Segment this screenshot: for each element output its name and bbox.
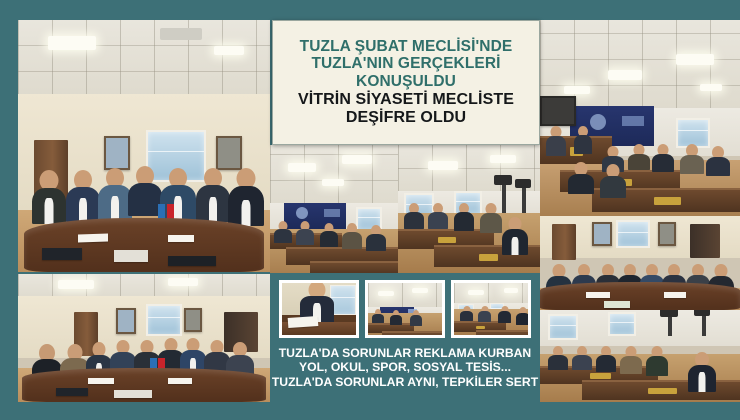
headline-line-2: TUZLA'NIN GERÇEKLERİ <box>311 55 500 72</box>
thumb-council-members-seated[interactable] <box>451 280 531 338</box>
photo-committee-meeting-large <box>18 20 270 272</box>
caption-line-2: YOL, OKUL, SPOR, SOSYAL TESİS... <box>272 360 538 374</box>
caption-text: TUZLA'DA SORUNLAR REKLAMA KURBAN YOL, OK… <box>272 346 538 389</box>
thumb-speaker-at-desk[interactable] <box>279 280 359 338</box>
caption-line-3: TUZLA'DA SORUNLAR AYNI, TEPKİLER SERT <box>272 375 538 389</box>
photo-council-session-top-right <box>540 20 740 216</box>
document-stack <box>288 316 319 328</box>
person-figure <box>32 170 66 224</box>
camera-tripod <box>502 181 506 215</box>
caption-line-1: TUZLA'DA SORUNLAR REKLAMA KURBAN <box>272 346 538 360</box>
thumb-council-chamber-wide[interactable] <box>365 280 445 338</box>
photo-council-session-right <box>398 145 540 273</box>
news-collage-poster: TUZLA ŞUBAT MECLİSİ'NDE TUZLA'NIN GERÇEK… <box>0 0 740 420</box>
headline-line-3: KONUŞULDU <box>356 73 456 90</box>
photo-council-session-center <box>270 145 398 273</box>
photo-committee-meeting-right <box>540 216 740 310</box>
caption-strip: TUZLA'DA SORUNLAR REKLAMA KURBAN YOL, OK… <box>270 274 540 408</box>
headline-line-4: VİTRİN SİYASETİ MECLİSTE <box>298 91 514 109</box>
headline-card: TUZLA ŞUBAT MECLİSİ'NDE TUZLA'NIN GERÇEK… <box>272 20 540 145</box>
headline-line-5: DEŞİFRE OLDU <box>346 109 466 127</box>
thumbnail-row <box>279 280 531 338</box>
headline-line-1: TUZLA ŞUBAT MECLİSİ'NDE <box>300 38 513 55</box>
photo-committee-meeting-bottom-left <box>18 274 270 402</box>
photo-council-audience-bottom-right <box>540 310 740 402</box>
